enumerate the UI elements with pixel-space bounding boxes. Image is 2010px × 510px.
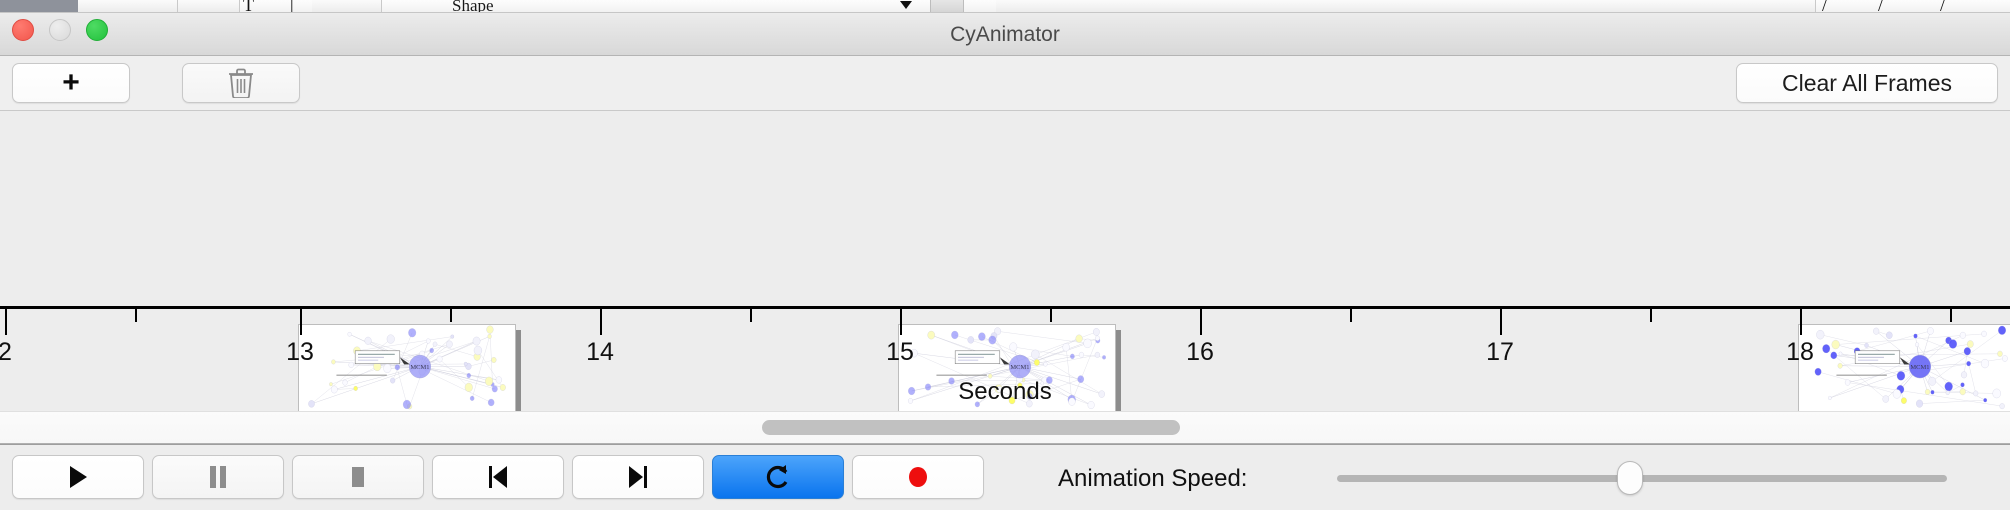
add-frame-button[interactable]: + <box>12 63 130 103</box>
ruler-tick-label: 16 <box>1186 338 1214 367</box>
record-icon <box>905 464 931 490</box>
skip-to-start-button[interactable] <box>432 455 564 499</box>
scrollbar-thumb[interactable] <box>762 420 1180 435</box>
ruler-tick-major <box>300 309 302 335</box>
clear-all-frames-label: Clear All Frames <box>1782 70 1952 97</box>
ruler-tick-minor <box>135 309 137 322</box>
axis-title: Seconds <box>0 378 2010 406</box>
play-icon <box>66 464 90 490</box>
ruler-tick-major <box>1800 309 1802 335</box>
skip-forward-icon <box>625 464 651 490</box>
toolbar: + Clear All Frames <box>0 56 2010 111</box>
ruler-tick-minor <box>1650 309 1652 322</box>
pause-icon <box>207 464 229 490</box>
timeline-ruler: 2131415161718 Seconds <box>0 306 2010 411</box>
background-glyph: / <box>1878 0 1883 13</box>
loop-button[interactable] <box>712 455 844 499</box>
timeline-panel[interactable]: MCM1 MCM1 MCM1 2131415161718 Seconds <box>0 111 2010 411</box>
record-button[interactable] <box>852 455 984 499</box>
ruler-tick-label: 13 <box>286 338 314 367</box>
titlebar: CyAnimator <box>0 13 2010 56</box>
background-glyph: | <box>290 0 294 13</box>
background-cell <box>178 0 240 13</box>
ruler-tick-minor <box>1050 309 1052 322</box>
animation-speed-slider[interactable] <box>1337 475 1947 482</box>
ruler-tick-minor <box>1950 309 1952 322</box>
stop-icon <box>347 464 369 490</box>
ruler-tick-major <box>1200 309 1202 335</box>
background-glyph: / <box>1940 0 1945 13</box>
ruler-tick-label: 15 <box>886 338 914 367</box>
background-window-strip: T | Shape / / / <box>0 0 2010 13</box>
background-cell <box>996 0 1816 13</box>
background-cell <box>312 0 382 13</box>
timeline-scrollbar[interactable] <box>0 411 2010 444</box>
ruler-tick-major <box>900 309 902 335</box>
ruler-tick-label: 14 <box>586 338 614 367</box>
ruler-tick-minor <box>1350 309 1352 322</box>
skip-back-icon <box>485 464 511 490</box>
play-button[interactable] <box>12 455 144 499</box>
slider-thumb[interactable] <box>1617 461 1643 495</box>
plus-icon: + <box>62 68 80 98</box>
skip-to-end-button[interactable] <box>572 455 704 499</box>
background-glyph: T <box>243 0 254 13</box>
window-title: CyAnimator <box>0 13 2010 56</box>
background-glyph: / <box>1822 0 1827 13</box>
background-window-selection <box>0 0 78 13</box>
cyanimator-window: T | Shape / / / CyAnimator + <box>0 0 2010 510</box>
ruler-tick-minor <box>750 309 752 322</box>
playback-bar: Animation Speed: <box>0 444 2010 510</box>
delete-frame-button[interactable] <box>182 63 300 103</box>
ruler-tick-major <box>1500 309 1502 335</box>
background-button <box>930 0 964 13</box>
background-cell <box>78 0 178 13</box>
ruler-tick-label: 18 <box>1786 338 1814 367</box>
background-window-label: Shape <box>452 0 494 13</box>
stop-button[interactable] <box>292 455 424 499</box>
ruler-tick-label: 17 <box>1486 338 1514 367</box>
loop-icon <box>765 463 791 491</box>
animation-speed-label: Animation Speed: <box>1058 465 1247 493</box>
ruler-tick-major <box>600 309 602 335</box>
ruler-tick-minor <box>450 309 452 322</box>
ruler-tick-major <box>5 309 7 335</box>
trash-icon <box>228 68 254 98</box>
background-caret-icon <box>900 1 912 9</box>
clear-all-frames-button[interactable]: Clear All Frames <box>1736 63 1998 103</box>
pause-button[interactable] <box>152 455 284 499</box>
ruler-tick-label: 2 <box>0 338 12 367</box>
